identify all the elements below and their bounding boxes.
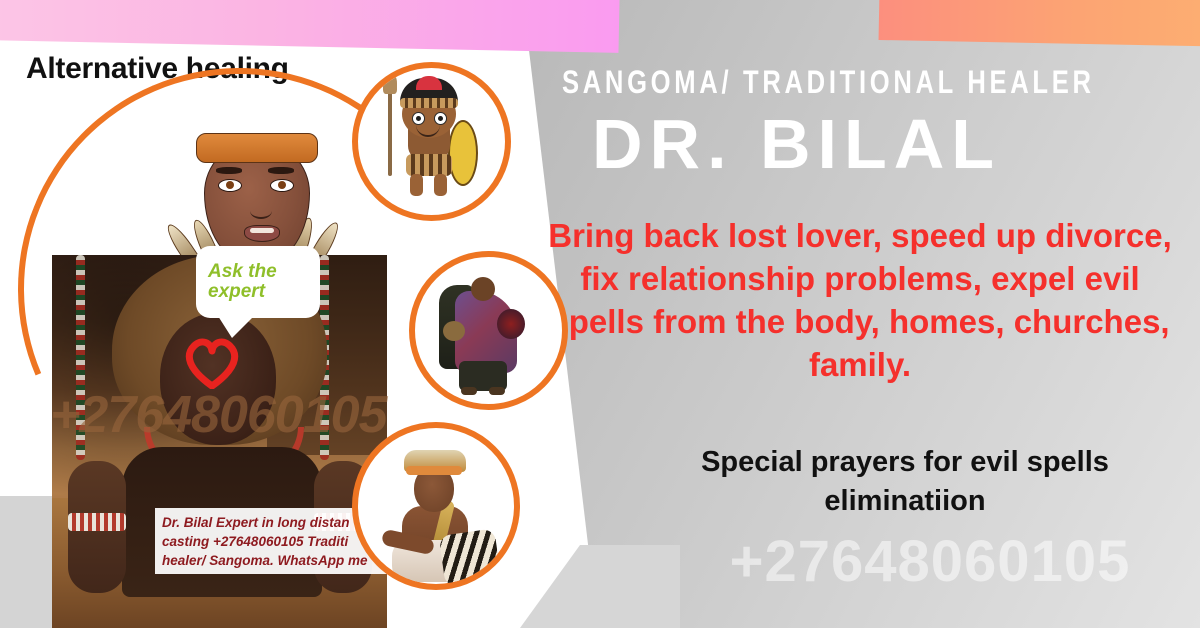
healer-foot (461, 387, 477, 395)
healer-bag (443, 321, 465, 341)
photo-watermark-phone: +27648060105 (50, 385, 387, 445)
warrior-skirt (406, 154, 452, 176)
grey-bottom-wedge (520, 545, 680, 628)
kicker-text: SANGOMA/ TRADITIONAL HEALER (562, 64, 1058, 101)
speech-bubble: Ask the expert (196, 246, 320, 318)
photo-wrist-cuff (68, 513, 126, 531)
circle-cloaked-healer (409, 251, 568, 410)
grey-left-strip (0, 496, 53, 628)
shield-icon (448, 120, 478, 186)
caption-line: casting +27648060105 Traditi (162, 532, 390, 551)
poster-canvas: Alternative healing (0, 0, 1200, 628)
contact-phone-watermark: +27648060105 (660, 528, 1200, 595)
warrior-headband (400, 98, 458, 108)
caption-line: healer/ Sangoma. WhatsApp me (162, 551, 390, 570)
dancer-fur-stripes (439, 528, 502, 587)
warrior-leg (434, 174, 447, 196)
speech-bubble-text: Ask the expert (196, 262, 320, 302)
spear-head-icon (383, 72, 397, 94)
dancer-crown-band (406, 466, 462, 475)
services-text: Bring back lost lover, speed up divorce,… (540, 215, 1180, 387)
healer-head (471, 277, 495, 301)
heart-icon (182, 333, 242, 389)
brand-name: DR. BILAL (592, 104, 1192, 184)
healer-foot (489, 387, 505, 395)
circle-traditional-dancer (352, 422, 520, 590)
healer-round-shield (497, 309, 525, 339)
spear-icon (388, 82, 392, 176)
pink-top-band (0, 0, 620, 53)
prayers-text: Special prayers for evil spells eliminat… (620, 443, 1190, 521)
orange-top-band (879, 0, 1200, 47)
circle-cartoon-warrior (352, 62, 511, 221)
warrior-leg (410, 174, 423, 196)
